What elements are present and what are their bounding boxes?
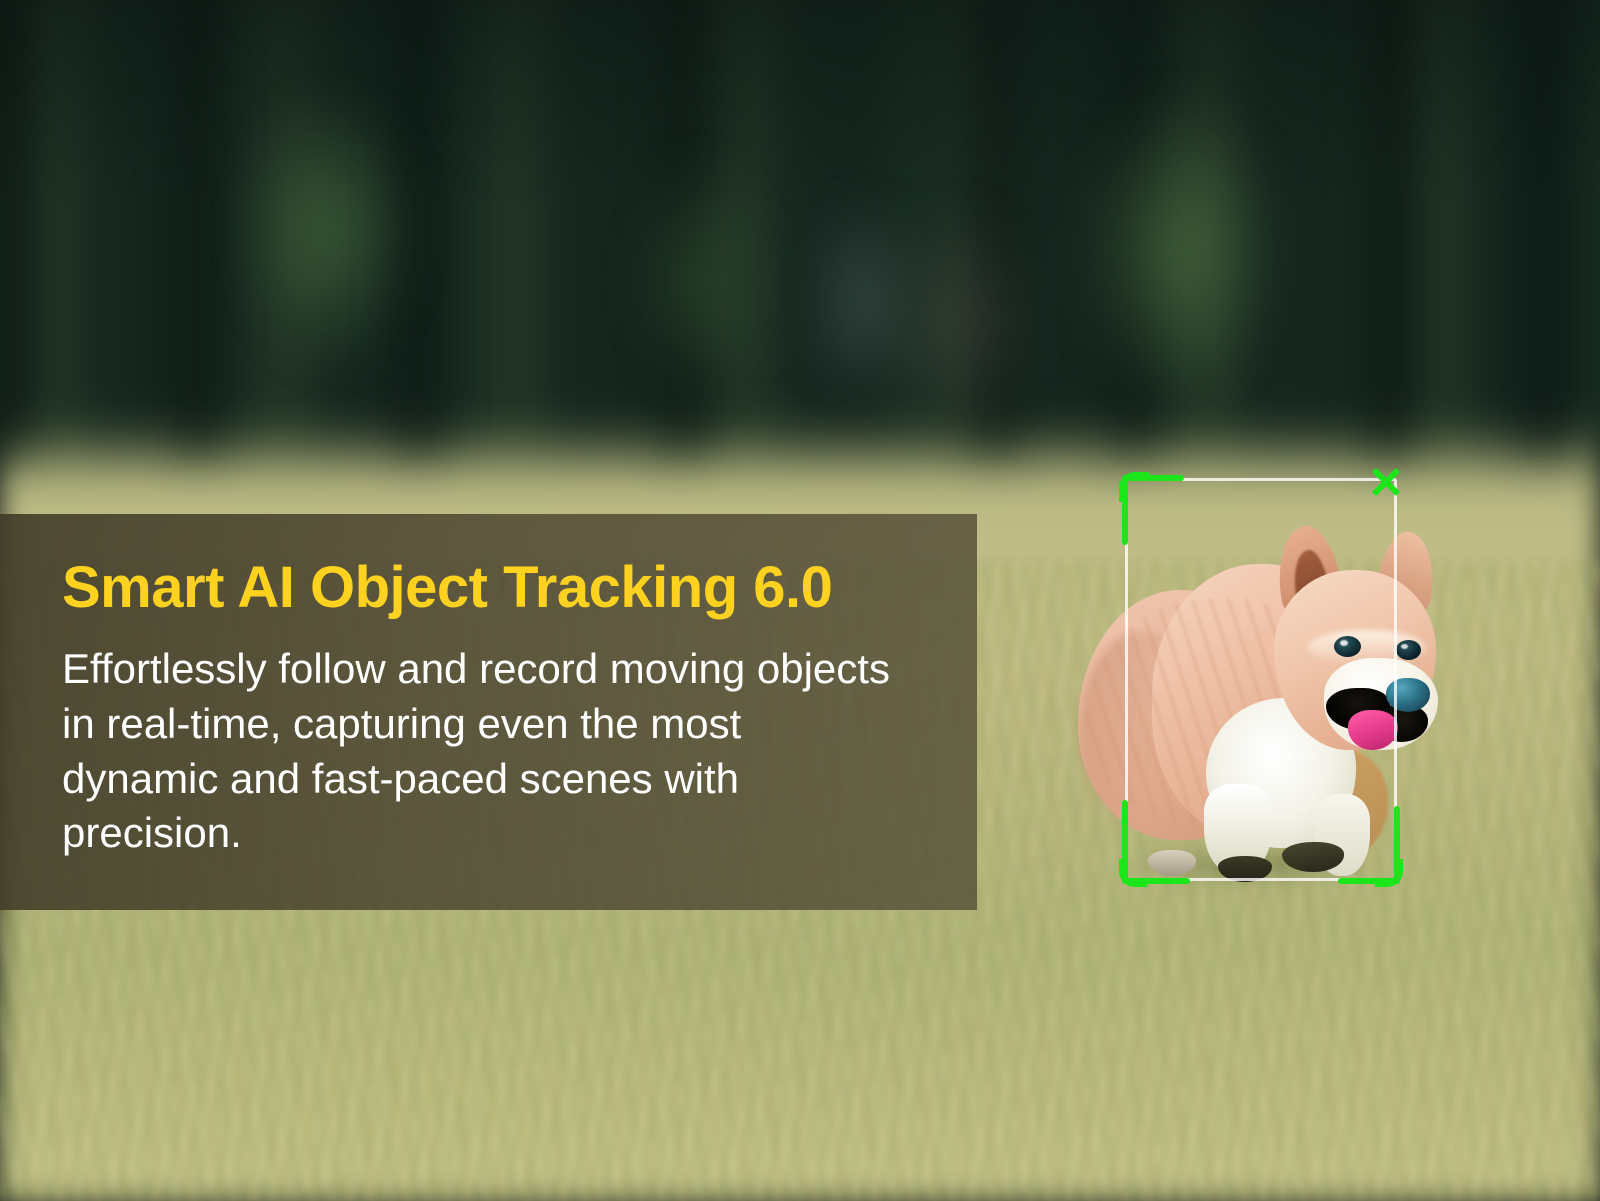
dog-eye-right bbox=[1396, 640, 1421, 660]
bracket-bottom-left-arc bbox=[1119, 859, 1147, 887]
background-bokeh bbox=[0, 0, 1600, 470]
bracket-bottom-left-icon bbox=[1122, 808, 1198, 884]
page-title: Smart AI Object Tracking 6.0 bbox=[62, 558, 921, 618]
feature-description: Effortlessly follow and record moving ob… bbox=[62, 642, 902, 860]
dog-eye-right-glint bbox=[1401, 644, 1408, 649]
bracket-bottom-right-arc bbox=[1375, 859, 1403, 887]
bracket-bottom-right-icon bbox=[1324, 808, 1400, 884]
bracket-top-left-arc bbox=[1119, 472, 1149, 502]
bracket-top-left-icon bbox=[1122, 475, 1198, 551]
feature-text-panel: Smart AI Object Tracking 6.0 Effortlessl… bbox=[0, 514, 977, 910]
object-tracking-frame[interactable] bbox=[1125, 478, 1397, 881]
close-x-icon[interactable] bbox=[1366, 462, 1406, 502]
promo-banner: Smart AI Object Tracking 6.0 Effortlessl… bbox=[0, 0, 1600, 1201]
